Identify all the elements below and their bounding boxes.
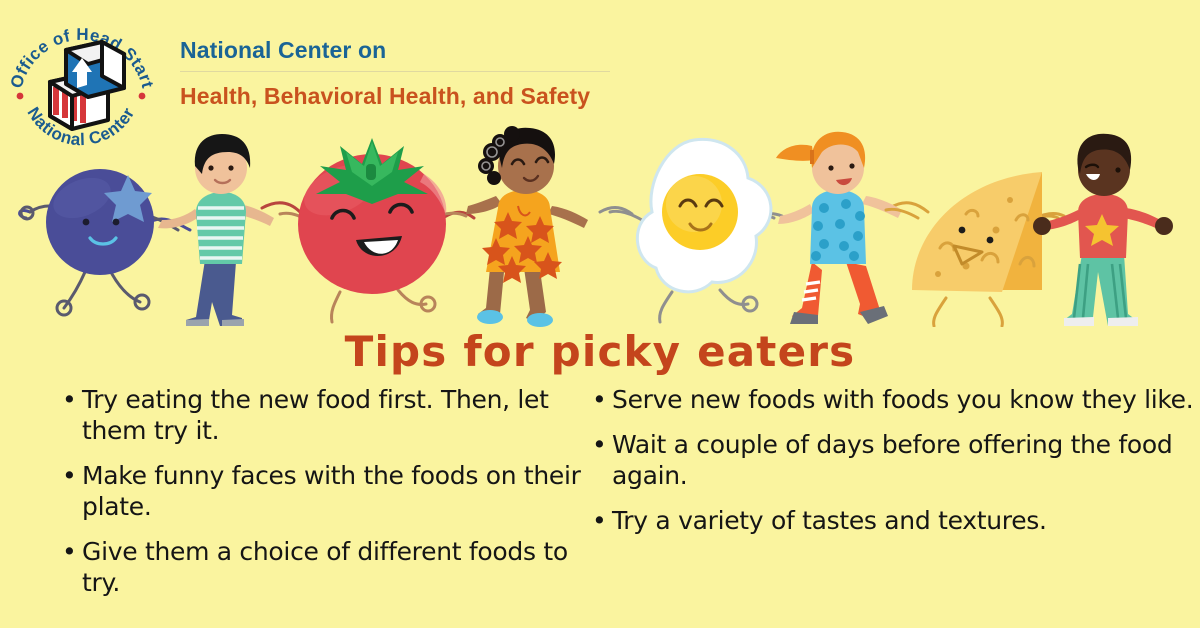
girl1-shoe-right (527, 313, 553, 327)
list-item: • Try eating the new food first. Then, l… (60, 384, 585, 446)
boy1-shoe-right (222, 319, 244, 326)
tips-right-column: • Serve new foods with foods you know th… (585, 384, 1200, 550)
boy2-shoe-left (1064, 317, 1094, 326)
logo-dot-right (139, 93, 146, 100)
boy-red-shirt (1033, 134, 1173, 326)
bullet-icon: • (62, 384, 76, 415)
list-item-text: Try eating the new food first. Then, let… (82, 385, 549, 445)
tips-left-list: • Try eating the new food first. Then, l… (60, 384, 585, 598)
header-divider (180, 71, 610, 72)
list-item: • Give them a choice of different foods … (60, 536, 585, 598)
list-item-text: Make funny faces with the foods on their… (82, 461, 581, 521)
blueberry-character (21, 169, 178, 315)
tips-right-list: • Serve new foods with foods you know th… (590, 384, 1200, 536)
boy1-shoe-left (186, 319, 209, 326)
list-item: • Wait a couple of days before offering … (590, 429, 1200, 491)
page-title: Tips for picky eaters (0, 327, 1200, 377)
tomato-character (280, 138, 466, 322)
girl-red-hair (776, 132, 902, 324)
boy1-pants (186, 260, 242, 326)
bullet-icon: • (592, 505, 606, 536)
bullet-icon: • (62, 460, 76, 491)
logo-dot-left (17, 93, 24, 100)
logo-block-arrow (66, 42, 124, 97)
bullet-icon: • (592, 429, 606, 460)
boy2-shoe-right (1108, 317, 1138, 326)
list-item: • Serve new foods with foods you know th… (590, 384, 1200, 415)
children-and-foods-illustration (0, 112, 1200, 327)
list-item: • Try a variety of tastes and textures. (590, 505, 1200, 536)
fried-egg-character (610, 139, 774, 322)
tips-section: • Try eating the new food first. Then, l… (0, 384, 1200, 614)
list-item-text: Try a variety of tastes and textures. (612, 506, 1047, 535)
header-line-2: Health, Behavioral Health, and Safety (180, 82, 820, 110)
bullet-icon: • (592, 384, 606, 415)
bullet-icon: • (62, 536, 76, 567)
list-item-text: Give them a choice of different foods to… (82, 537, 568, 597)
poster-header: Office of Head Start National Center (0, 0, 1200, 130)
girl2-ponytail (776, 145, 814, 161)
girl1-shoe-left (477, 310, 503, 324)
list-item-text: Wait a couple of days before offering th… (612, 430, 1172, 490)
header-line-1: National Center on (180, 36, 820, 64)
tips-left-column: • Try eating the new food first. Then, l… (0, 384, 585, 612)
list-item-text: Serve new foods with foods you know they… (612, 385, 1193, 414)
illustration-svg (0, 112, 1200, 327)
poster-canvas: Office of Head Start National Center (0, 0, 1200, 628)
girl-orange-dress (466, 126, 588, 327)
header-title-block: National Center on Health, Behavioral He… (180, 36, 820, 110)
cheese-wedge-character (886, 172, 1058, 326)
list-item: • Make funny faces with the foods on the… (60, 460, 585, 522)
